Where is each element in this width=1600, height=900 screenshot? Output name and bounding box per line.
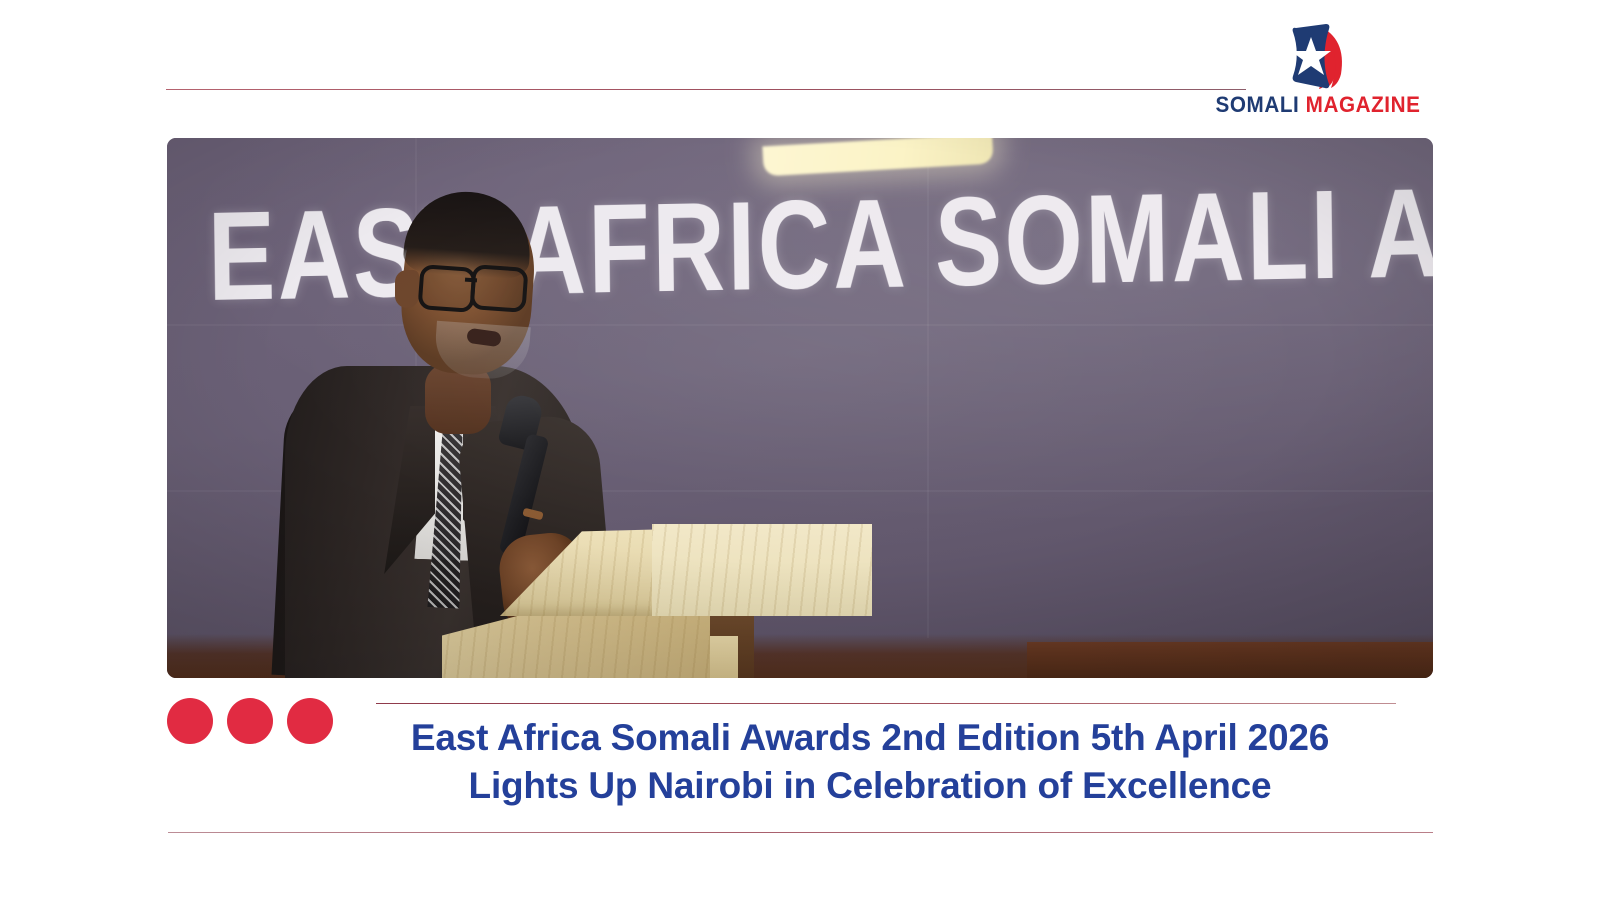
dot-indicator: [287, 698, 333, 744]
podium-top-face: [652, 524, 872, 616]
brand-wordmark: SOMALI MAGAZINE: [1216, 94, 1421, 116]
news-card-page: SOMALI MAGAZINE EAST AFRICA SOMALI AWARD…: [0, 0, 1600, 900]
headline-divider: [376, 703, 1396, 704]
header-divider: [166, 89, 1246, 90]
podium-wood-grain: [652, 524, 872, 616]
dot-indicator: [167, 698, 213, 744]
eyeglasses-bridge: [465, 278, 477, 283]
headline-line-1: East Africa Somali Awards 2nd Edition 5t…: [340, 714, 1400, 762]
dot-indicator: [227, 698, 273, 744]
wooden-podium: [442, 508, 872, 678]
headline: East Africa Somali Awards 2nd Edition 5t…: [340, 714, 1400, 810]
eyeglasses-right-lens: [469, 264, 528, 313]
headline-line-2: Lights Up Nairobi in Celebration of Exce…: [340, 762, 1400, 810]
somali-magazine-flag-star-logo-icon: [1279, 22, 1357, 90]
footer-divider: [168, 832, 1433, 833]
eyeglasses-left-lens: [417, 264, 476, 313]
page-header: SOMALI MAGAZINE: [0, 0, 1600, 138]
brand-word-magazine: MAGAZINE: [1306, 92, 1421, 117]
hero-photo: EAST AFRICA SOMALI AWARDS: [167, 138, 1433, 678]
page-footer: East Africa Somali Awards 2nd Edition 5t…: [0, 678, 1600, 900]
ear: [395, 270, 419, 308]
brand-word-somali: SOMALI: [1216, 92, 1300, 117]
decorative-dots: [167, 698, 333, 744]
brand-logo[interactable]: SOMALI MAGAZINE: [1228, 22, 1408, 132]
